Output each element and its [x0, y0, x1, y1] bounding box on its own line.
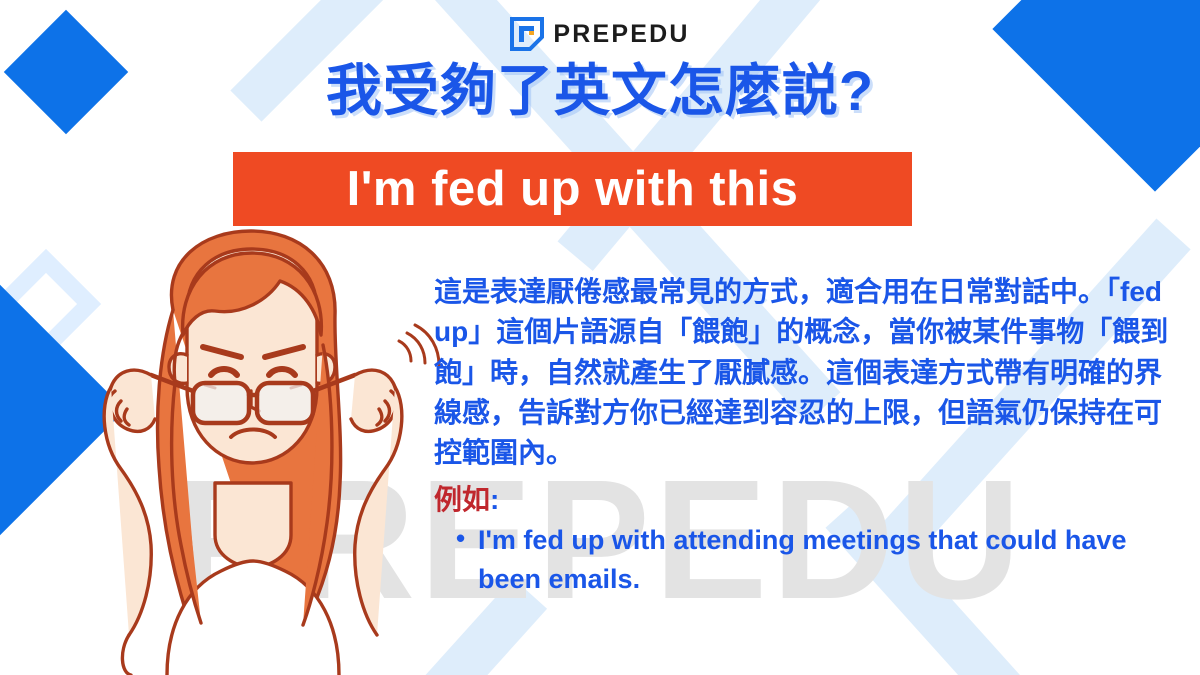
examples-heading: 例如: [434, 480, 1174, 519]
prepedu-logo-icon [510, 17, 544, 51]
body-copy: 這是表達厭倦感最常見的方式，適合用在日常對話中。「fed up」這個片語源自「餵… [434, 272, 1174, 599]
annoyed-woman-illustration [55, 215, 445, 675]
examples-colon: : [490, 484, 499, 515]
brand-logo: PREPEDU [0, 17, 1200, 51]
slide-canvas: PREPEDU PREPEDU 我受夠了英文怎麼説? I'm fed up wi… [0, 0, 1200, 675]
brand-name: PREPEDU [553, 22, 689, 47]
phrase-banner-text: I'm fed up with this [347, 165, 799, 214]
list-item: I'm fed up with attending meetings that … [478, 521, 1174, 599]
examples-list: I'm fed up with attending meetings that … [434, 521, 1174, 599]
page-title: 我受夠了英文怎麼説? [0, 60, 1200, 122]
examples-label: 例如 [434, 484, 490, 515]
description-paragraph: 這是表達厭倦感最常見的方式，適合用在日常對話中。「fed up」這個片語源自「餵… [434, 272, 1174, 474]
